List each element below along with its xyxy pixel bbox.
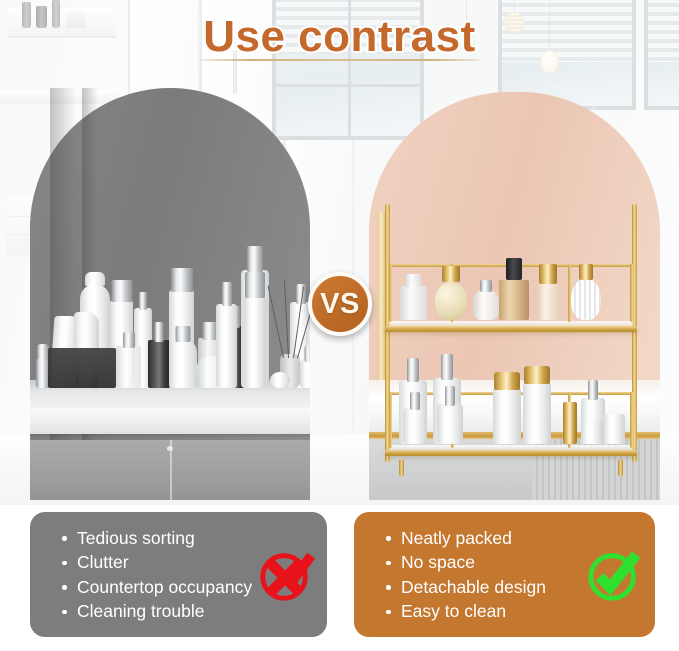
after-photo-organized	[369, 92, 660, 500]
title-underline-rule	[200, 59, 479, 61]
vs-label: VS	[320, 290, 360, 319]
page-title-wrapper: Use contrast	[0, 14, 679, 60]
list-item: Neatly packed	[384, 526, 546, 551]
bottle-square-glass-1	[116, 332, 141, 388]
perfume-gold-cylinder	[537, 264, 559, 320]
rack-railv-lower-right	[630, 392, 633, 448]
bottle-dropper-dark-1	[148, 322, 170, 388]
list-item: Countertop occupancy	[60, 575, 252, 600]
perfume-black-cap-amber	[499, 258, 529, 320]
perfume-ribbed-white	[571, 264, 601, 320]
rack-shelf-upper-glass	[389, 321, 633, 326]
gold-shelf-rack	[385, 204, 637, 462]
rack-foot-right	[618, 460, 623, 476]
toner-gold-cap-1	[493, 372, 521, 444]
pros-panel: Neatly packed No space Detachable design…	[354, 512, 655, 637]
cream-jar-right-2	[603, 414, 625, 444]
perfume-round-gold	[435, 266, 467, 320]
left-bottle-group	[30, 88, 310, 388]
rack-railv-lower-left	[389, 392, 392, 448]
cream-jar-right-1	[581, 420, 603, 444]
perfume-diamond-clear	[473, 280, 499, 320]
rack-shelf-lower-glass	[389, 445, 633, 450]
rack-railv-upper-left	[389, 264, 392, 322]
list-item: Detachable design	[384, 575, 546, 600]
perfume-square-clear	[399, 274, 427, 320]
lipstick-gold-tube	[563, 402, 577, 444]
toner-gold-cap-2	[523, 366, 551, 444]
rack-shelf-lower	[385, 450, 637, 456]
list-item: No space	[384, 550, 546, 575]
bottle-oval-white-front	[169, 326, 197, 388]
list-item: Easy to clean	[384, 599, 546, 624]
list-item: Cleaning trouble	[60, 599, 252, 624]
rack-shelf-upper	[385, 326, 637, 332]
bottle-mist-spray-1	[216, 282, 237, 388]
rack-railv-upper-right	[630, 264, 633, 322]
bottle-small-pump-far-right	[300, 346, 310, 388]
rack-foot-left	[399, 460, 404, 476]
cons-panel: Tedious sorting Clutter Countertop occup…	[30, 512, 327, 637]
red-x-cross-icon	[257, 546, 315, 604]
page-title: Use contrast	[203, 14, 476, 60]
mirror-dark-reflection	[48, 348, 116, 388]
bottle-slim-white-tall	[244, 272, 266, 388]
before-photo-cluttered	[30, 88, 310, 500]
list-item: Clutter	[60, 550, 252, 575]
pros-list: Neatly packed No space Detachable design…	[354, 526, 546, 624]
list-item: Tedious sorting	[60, 526, 252, 551]
left-countertop	[30, 380, 310, 500]
lotion-pump-small-2	[437, 386, 463, 444]
bottle-round-jar	[270, 372, 290, 388]
cons-list: Tedious sorting Clutter Countertop occup…	[30, 526, 252, 624]
vs-badge: VS	[308, 272, 372, 336]
lotion-pump-small-1	[403, 392, 427, 444]
green-check-icon	[585, 546, 643, 604]
